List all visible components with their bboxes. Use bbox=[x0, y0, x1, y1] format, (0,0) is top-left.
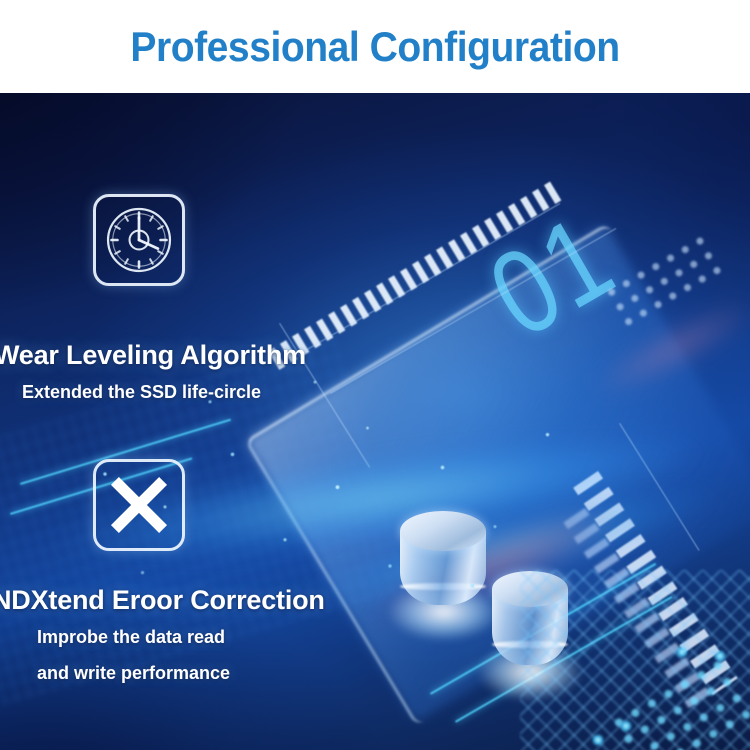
x-mark-icon bbox=[93, 459, 185, 551]
trace-node-glow bbox=[714, 650, 726, 662]
feature-title: Wear Leveling Algorithm bbox=[0, 342, 306, 369]
feature-title: NDXtend Eroor Correction bbox=[0, 587, 325, 614]
header-bar: Professional Configuration bbox=[0, 0, 750, 93]
feature-subtitle: Improbe the data read bbox=[37, 628, 225, 646]
trace-node-glow bbox=[676, 646, 688, 658]
product-feature-banner: Professional Configuration 01 bbox=[0, 0, 750, 750]
trace-node-glow bbox=[592, 734, 604, 746]
hero-image: 01 bbox=[0, 93, 750, 750]
clock-icon bbox=[93, 194, 185, 286]
page-title: Professional Configuration bbox=[130, 26, 619, 68]
feature-subtitle: Extended the SSD life-circle bbox=[22, 383, 261, 401]
trace-node-glow bbox=[620, 720, 632, 732]
feature-subtitle: and write performance bbox=[37, 664, 230, 682]
